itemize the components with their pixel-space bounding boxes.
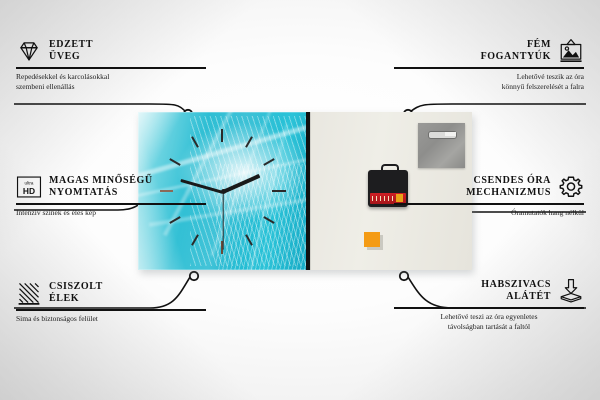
- callout-subtitle-line2: könnyű felszerelését a falra: [394, 82, 584, 92]
- callout-header: ultra HD MAGAS MINŐSÉGŰ NYOMTATÁS: [16, 174, 206, 200]
- callout-metal-handles: FÉM FOGANTYÚK Lehetővé teszik az óra kön…: [394, 38, 584, 92]
- callout-polished-edges: CSISZOLT ÉLEK Sima és biztonságos felüle…: [16, 280, 206, 324]
- callout-header: HABSZIVACS ALÁTÉT: [394, 278, 584, 304]
- callout-title: EDZETT ÜVEG: [49, 39, 93, 63]
- callout-rule: [394, 307, 584, 309]
- svg-text:HD: HD: [23, 186, 35, 196]
- callout-title: FÉM FOGANTYÚK: [481, 39, 551, 63]
- gear-icon: [558, 174, 584, 200]
- callout-title: CSENDES ÓRA MECHANIZMUS: [466, 175, 551, 199]
- callout-subtitle-line1: Lehetővé teszik az óra: [394, 72, 584, 82]
- callout-header: FÉM FOGANTYÚK: [394, 38, 584, 64]
- callout-rule: [16, 67, 206, 69]
- clock-hand-second: [222, 192, 223, 250]
- press-pad-icon: [558, 278, 584, 304]
- callout-high-quality-print: ultra HD MAGAS MINŐSÉGŰ NYOMTATÁS Intenz…: [16, 174, 206, 218]
- hanger-keyhole-slot: [428, 131, 457, 139]
- callout-subtitle-line1: Óramutatók hang nélkül: [394, 208, 584, 218]
- callout-silent-mechanism: CSENDES ÓRA MECHANIZMUS Óramutatók hang …: [394, 174, 584, 218]
- infographic-canvas: EDZETT ÜVEG Repedésekkel és karcolásokka…: [0, 0, 600, 400]
- mechanism-hanging-loop: [381, 164, 399, 174]
- polished-edge-icon: [16, 280, 42, 306]
- picture-frame-icon: [558, 38, 584, 64]
- callout-subtitle-line2: szembeni ellenállás: [16, 82, 206, 92]
- callout-subtitle-line1: Intenzív színek és éles kép: [16, 208, 206, 218]
- callout-title: HABSZIVACS ALÁTÉT: [481, 279, 551, 303]
- callout-subtitle-line1: Sima és biztonságos felület: [16, 314, 206, 324]
- callout-title: CSISZOLT ÉLEK: [49, 281, 103, 305]
- callout-title: MAGAS MINŐSÉGŰ NYOMTATÁS: [49, 175, 153, 199]
- callout-foam-pad: HABSZIVACS ALÁTÉT Lehetővé teszi az óra …: [394, 278, 584, 332]
- battery-label-lines: [372, 196, 394, 201]
- callout-header: CSENDES ÓRA MECHANIZMUS: [394, 174, 584, 200]
- leader-tempered-glass: [14, 104, 186, 112]
- ultra-hd-icon: ultra HD: [16, 174, 42, 200]
- clock-tick: [221, 129, 223, 142]
- clock-center-cap: [221, 189, 226, 194]
- callout-subtitle-line1: Lehetővé teszi az óra egyenletes: [394, 312, 584, 322]
- foam-spacer-pad: [364, 232, 380, 247]
- callout-subtitle-line2: távolságban tartását a faltól: [394, 322, 584, 332]
- callout-subtitle-line1: Repedésekkel és karcolásokkal: [16, 72, 206, 82]
- callout-rule: [16, 203, 206, 205]
- callout-rule: [16, 309, 206, 311]
- leader-metal-handles: [410, 104, 586, 112]
- metal-hanger: [418, 123, 465, 168]
- callout-rule: [394, 67, 584, 69]
- callout-header: CSISZOLT ÉLEK: [16, 280, 206, 306]
- callout-rule: [394, 203, 584, 205]
- callout-tempered-glass: EDZETT ÜVEG Repedésekkel és karcolásokka…: [16, 38, 206, 92]
- clock-tick: [272, 190, 286, 192]
- callout-header: EDZETT ÜVEG: [16, 38, 206, 64]
- diamond-icon: [16, 38, 42, 64]
- svg-text:ultra: ultra: [25, 181, 34, 186]
